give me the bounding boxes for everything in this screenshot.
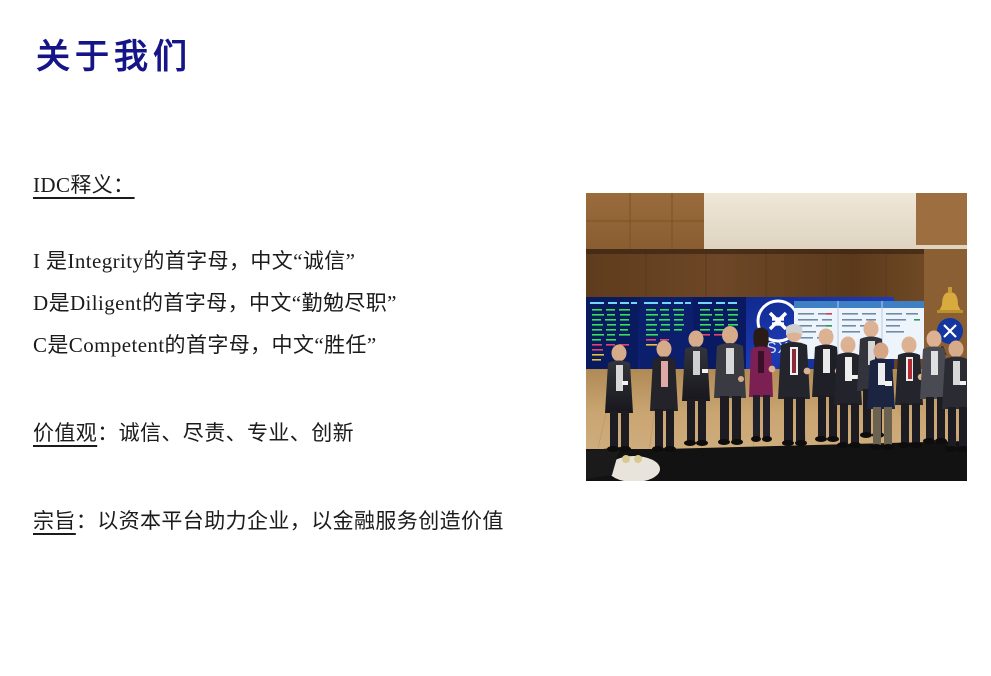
body-content: IDC释义： I 是Integrity的首字母，中文“诚信” D是Diligen… [33, 166, 573, 542]
mission-text: ：以资本平台助力企业，以金融服务创造价值 [76, 509, 504, 533]
values-line: 价值观：诚信、尽责、专业、创新 [33, 412, 573, 454]
spacer-after-heading [33, 204, 573, 240]
values-label: 价值观 [33, 421, 97, 445]
idc-heading-text: IDC释义： [33, 173, 151, 197]
spacer-before-values [33, 366, 573, 412]
definition-line-c: C是Competent的首字母，中文“胜任” [33, 324, 573, 366]
idc-heading-line: IDC释义： [33, 166, 573, 204]
photo-canvas: A [586, 193, 967, 481]
photo-upper-panel-left [586, 193, 704, 251]
values-text: ：诚信、尽责、专业、创新 [97, 421, 354, 445]
definition-line-d: D是Diligent的首字母，中文“勤勉尽职” [33, 282, 573, 324]
spacer-before-mission [33, 454, 573, 500]
mission-line: 宗旨：以资本平台助力企业，以金融服务创造价值 [33, 500, 573, 542]
definition-line-i: I 是Integrity的首字母，中文“诚信” [33, 240, 573, 282]
mission-label: 宗旨 [33, 509, 76, 533]
photo-upper-panel-right [916, 193, 967, 245]
group-photo: A [586, 193, 967, 481]
page-title: 关于我们 [36, 38, 192, 79]
slide-root: 关于我们 IDC释义： I 是Integrity的首字母，中文“诚信” D是Di… [0, 0, 991, 676]
